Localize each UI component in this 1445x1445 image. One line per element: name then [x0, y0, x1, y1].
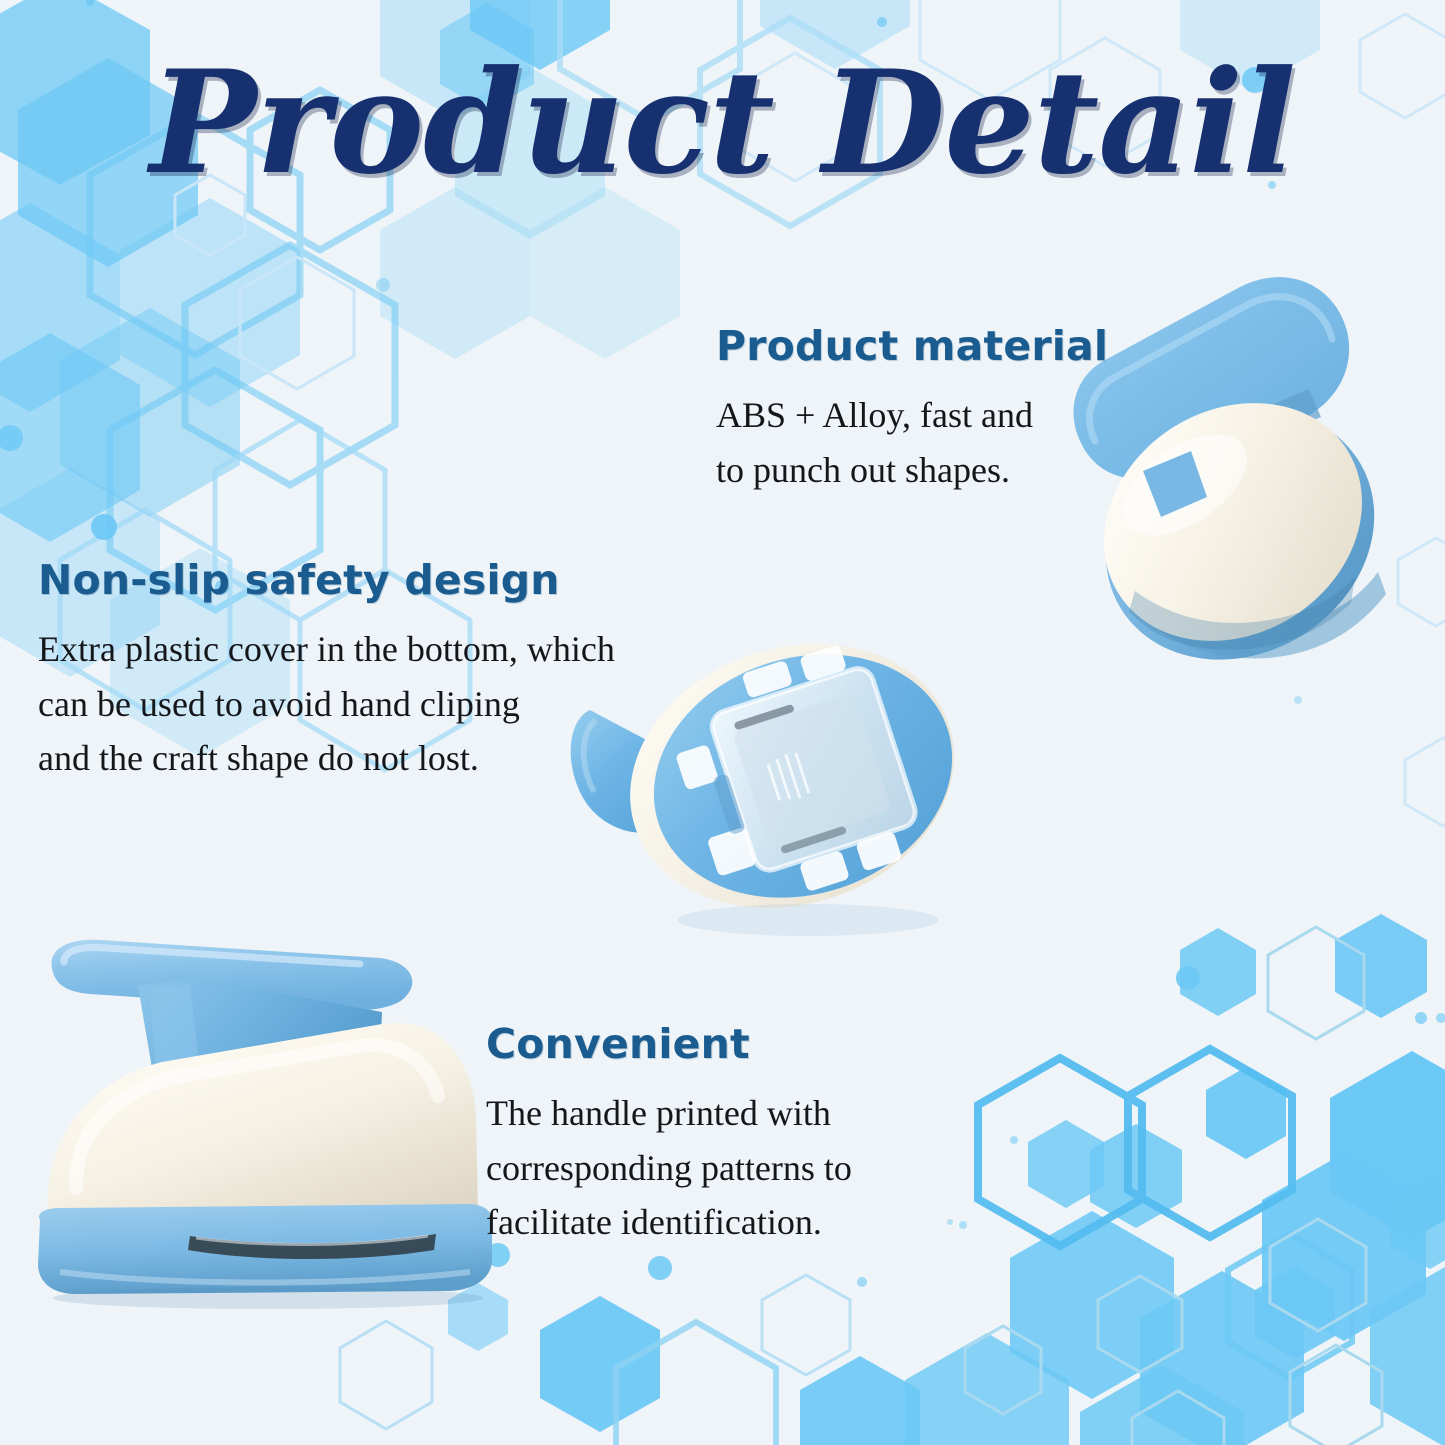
feature-body-non-slip-safety-design: Extra plastic cover in the bottom, which…: [38, 622, 615, 786]
feature-body-line: to punch out shapes.: [716, 443, 1108, 498]
feature-body-line: ABS + Alloy, fast and: [716, 388, 1108, 443]
feature-body-line: can be used to avoid hand cliping: [38, 677, 615, 732]
feature-body-convenient: The handle printed with corresponding pa…: [486, 1086, 852, 1250]
feature-body-line: Extra plastic cover in the bottom, which: [38, 622, 615, 677]
feature-body-line: corresponding patterns to: [486, 1141, 852, 1196]
product-image-punch-side-view: [30, 920, 510, 1310]
feature-heading-product-material: Product material: [716, 322, 1108, 370]
feature-body-line: facilitate identification.: [486, 1195, 852, 1250]
product-image-punch-bottom-view: [560, 600, 990, 970]
feature-block-convenient: Convenient The handle printed with corre…: [486, 1020, 852, 1250]
feature-block-non-slip-safety-design: Non-slip safety design Extra plastic cov…: [38, 556, 615, 786]
page-title: Product Detail: [0, 52, 1445, 194]
feature-body-line: The handle printed with: [486, 1086, 852, 1141]
feature-block-product-material: Product material ABS + Alloy, fast and t…: [716, 322, 1108, 497]
hex-cluster-bottom-right: [905, 914, 1445, 1445]
feature-body-product-material: ABS + Alloy, fast and to punch out shape…: [716, 388, 1108, 497]
feature-heading-convenient: Convenient: [486, 1020, 852, 1068]
feature-heading-non-slip-safety-design: Non-slip safety design: [38, 556, 615, 604]
product-detail-page: Product Detail: [0, 0, 1445, 1445]
feature-body-line: and the craft shape do not lost.: [38, 731, 615, 786]
